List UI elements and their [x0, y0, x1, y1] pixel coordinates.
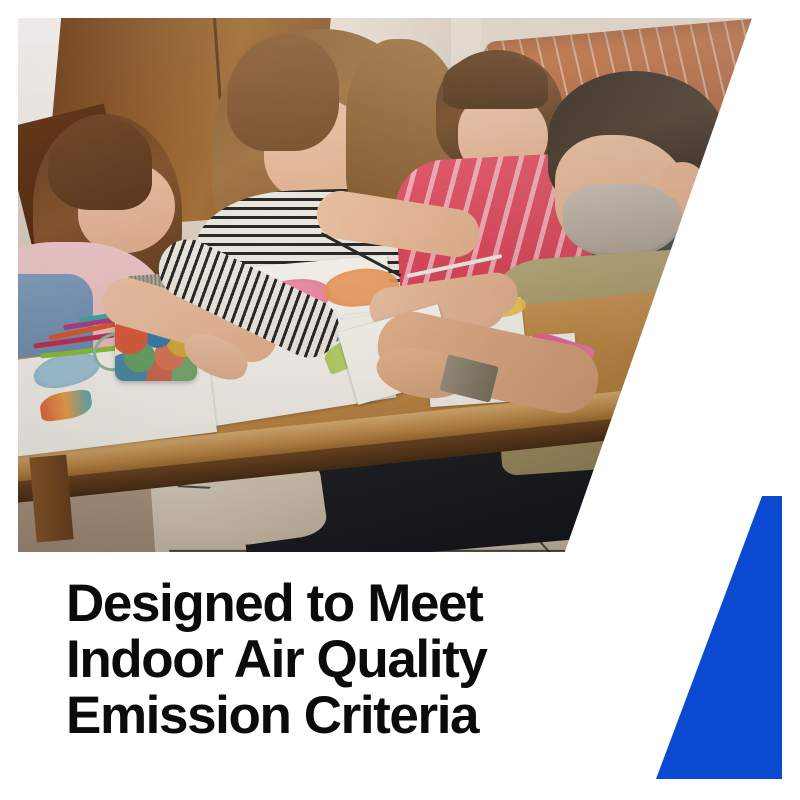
blue-accent-shape: [650, 494, 784, 780]
boy-fringe: [443, 55, 547, 108]
photo-scene: [18, 18, 764, 552]
coffee-table-leg: [29, 454, 74, 542]
page-title: Designed to Meet Indoor Air Quality Emis…: [66, 576, 666, 744]
father-ear: [660, 162, 705, 199]
girl-hair-front: [48, 119, 152, 210]
hero-photo: [18, 18, 764, 552]
blue-wedge-polygon: [656, 496, 782, 779]
poster-canvas: Designed to Meet Indoor Air Quality Emis…: [0, 0, 800, 800]
